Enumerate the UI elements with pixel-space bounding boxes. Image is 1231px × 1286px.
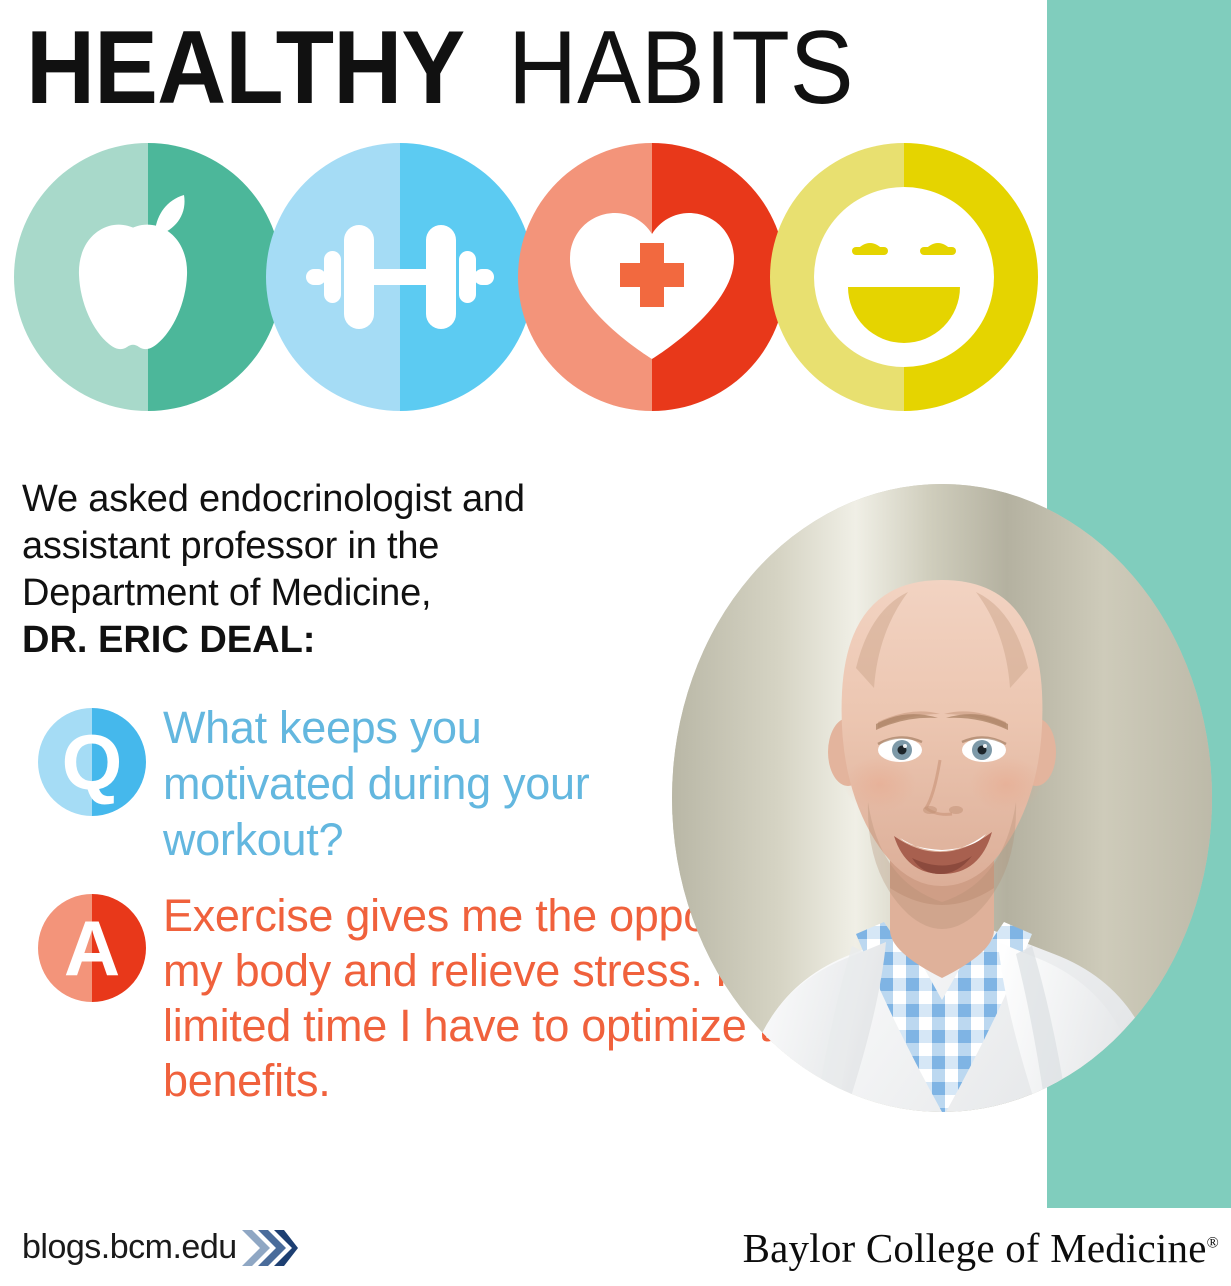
doctor-name: DR. ERIC DEAL: <box>22 617 622 664</box>
triple-chevron-icon <box>240 1226 300 1270</box>
icon-circle-row <box>0 143 1060 413</box>
intro-line-1: We asked endocrinologist and <box>22 476 622 523</box>
title-word-healthy: HEALTHY <box>26 16 464 120</box>
question-badge: Q <box>38 708 146 816</box>
answer-badge-letter: A <box>38 894 146 1002</box>
question-text: What keeps you motivated during your wor… <box>163 700 633 868</box>
dumbbell-icon <box>266 143 534 411</box>
title-word-habits: HABITS <box>508 16 854 120</box>
answer-badge: A <box>38 894 146 1002</box>
healthy-habits-infographic: HEALTHYHABITS <box>0 0 1231 1286</box>
intro-line-3: Department of Medicine, <box>22 570 622 617</box>
heart-plus-icon <box>518 143 786 411</box>
doctor-portrait <box>672 484 1212 1112</box>
intro-line-2: assistant professor in the <box>22 523 622 570</box>
question-badge-letter: Q <box>38 708 146 816</box>
intro-paragraph: We asked endocrinologist and assistant p… <box>22 476 622 664</box>
registered-mark: ® <box>1207 1234 1219 1251</box>
apple-icon <box>14 143 282 411</box>
bcm-logo-text: Baylor College of Medicine <box>743 1225 1207 1271</box>
blog-url[interactable]: blogs.bcm.edu <box>22 1228 237 1267</box>
page-title: HEALTHYHABITS <box>26 16 884 120</box>
bcm-logo: Baylor College of Medicine® <box>743 1224 1219 1272</box>
smiley-icon <box>770 143 1038 411</box>
